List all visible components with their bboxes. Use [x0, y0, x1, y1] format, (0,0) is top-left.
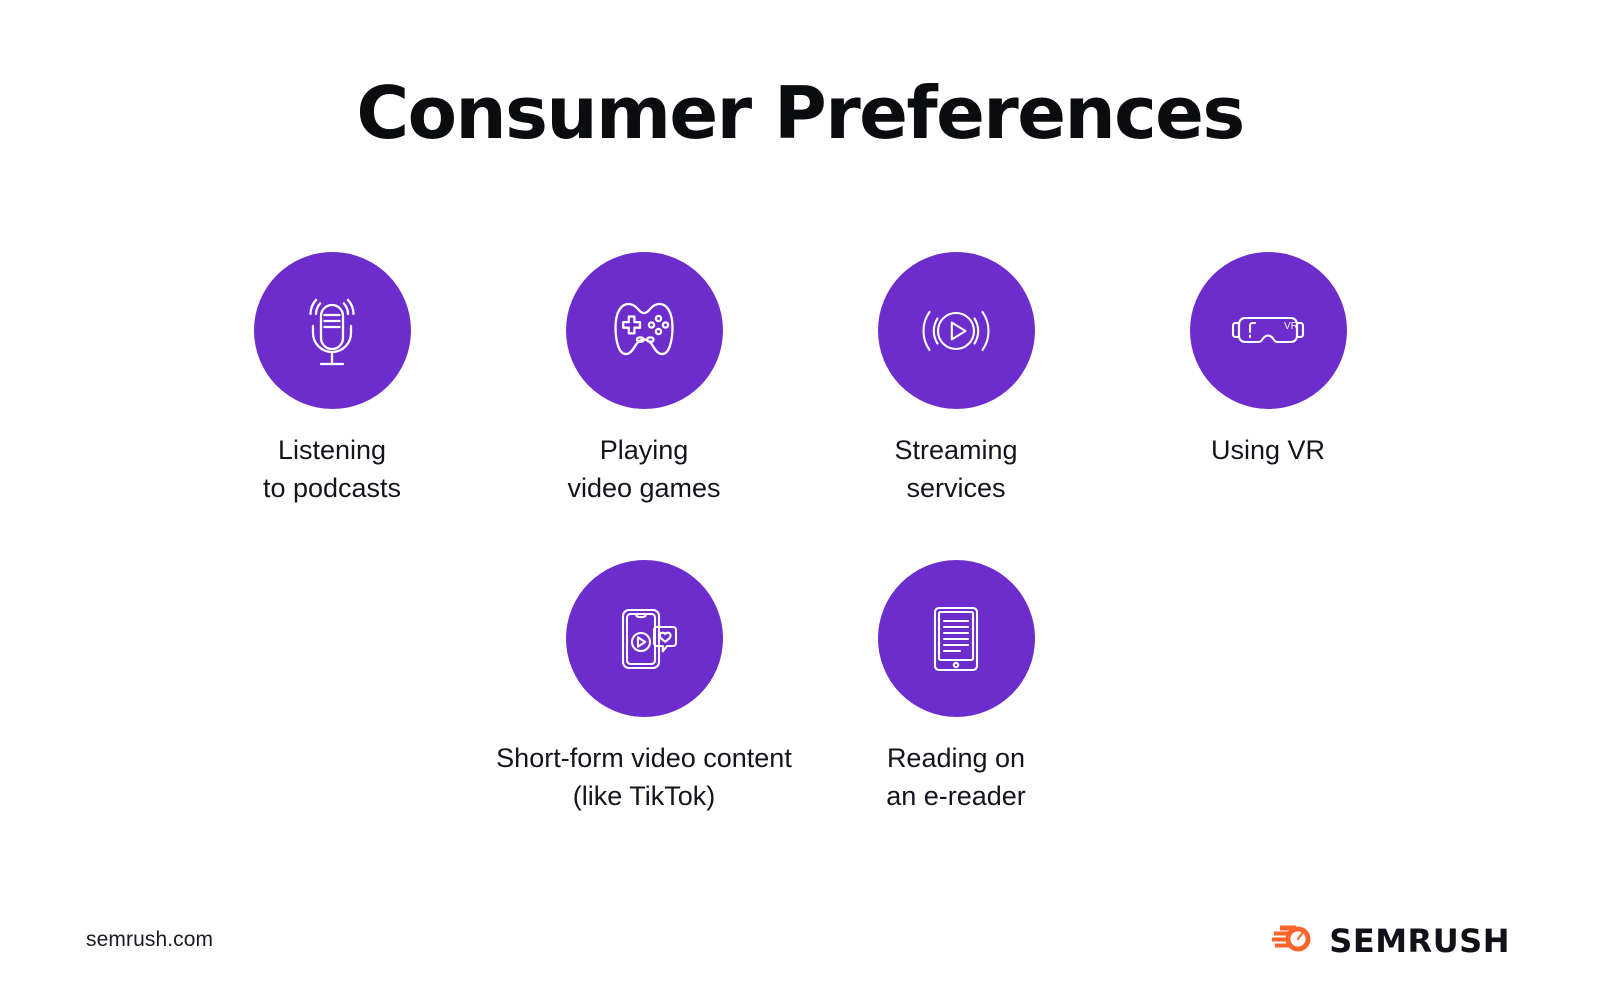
e-reader-icon: [913, 596, 999, 682]
streaming-play-icon: [913, 288, 999, 374]
row-spacer-left: [182, 560, 482, 815]
semrush-wordmark: SEMRUSH: [1329, 925, 1510, 957]
preference-label-reading-on-an-e-reader: Reading on an e-reader: [886, 739, 1026, 815]
preference-badge-podcasts: [254, 252, 411, 409]
preferences-row-bottom: Short-form video content (like TikTok) R…: [0, 560, 1600, 815]
preference-badge-vr: VR: [1190, 252, 1347, 409]
phone-video-heart-icon: [601, 596, 687, 682]
preference-item-reading-on-an-e-reader: Reading on an e-reader: [806, 560, 1106, 815]
row-spacer-right: [1118, 560, 1418, 815]
preference-badge-streaming: [878, 252, 1035, 409]
preference-item-listening-to-podcasts: Listening to podcasts: [182, 252, 482, 507]
preference-badge-video-games: [566, 252, 723, 409]
preference-label-playing-video-games: Playing video games: [567, 431, 720, 507]
footer-url[interactable]: semrush.com: [86, 928, 213, 952]
microphone-icon: [289, 288, 375, 374]
page-title: Consumer Preferences: [0, 76, 1600, 152]
semrush-comet-icon: [1272, 921, 1316, 960]
preference-item-short-form-video-content: Short-form video content (like TikTok): [494, 560, 794, 815]
preference-label-using-vr: Using VR: [1211, 431, 1325, 469]
preference-item-playing-video-games: Playing video games: [494, 252, 794, 507]
preference-label-listening-to-podcasts: Listening to podcasts: [263, 431, 401, 507]
semrush-logo[interactable]: SEMRUSH: [1272, 921, 1510, 960]
preference-item-using-vr: VR Using VR: [1118, 252, 1418, 507]
preference-badge-e-reader: [878, 560, 1035, 717]
preference-item-streaming-services: Streaming services: [806, 252, 1106, 507]
preference-label-streaming-services: Streaming services: [894, 431, 1017, 507]
preference-label-short-form-video-content: Short-form video content (like TikTok): [444, 739, 844, 815]
preference-badge-short-form-video: [566, 560, 723, 717]
preferences-row-top: Listening to podcasts Playing video game…: [0, 252, 1600, 507]
vr-headset-icon: VR: [1225, 288, 1311, 374]
vr-headset-label: VR: [1284, 321, 1298, 332]
gamepad-icon: [601, 288, 687, 374]
